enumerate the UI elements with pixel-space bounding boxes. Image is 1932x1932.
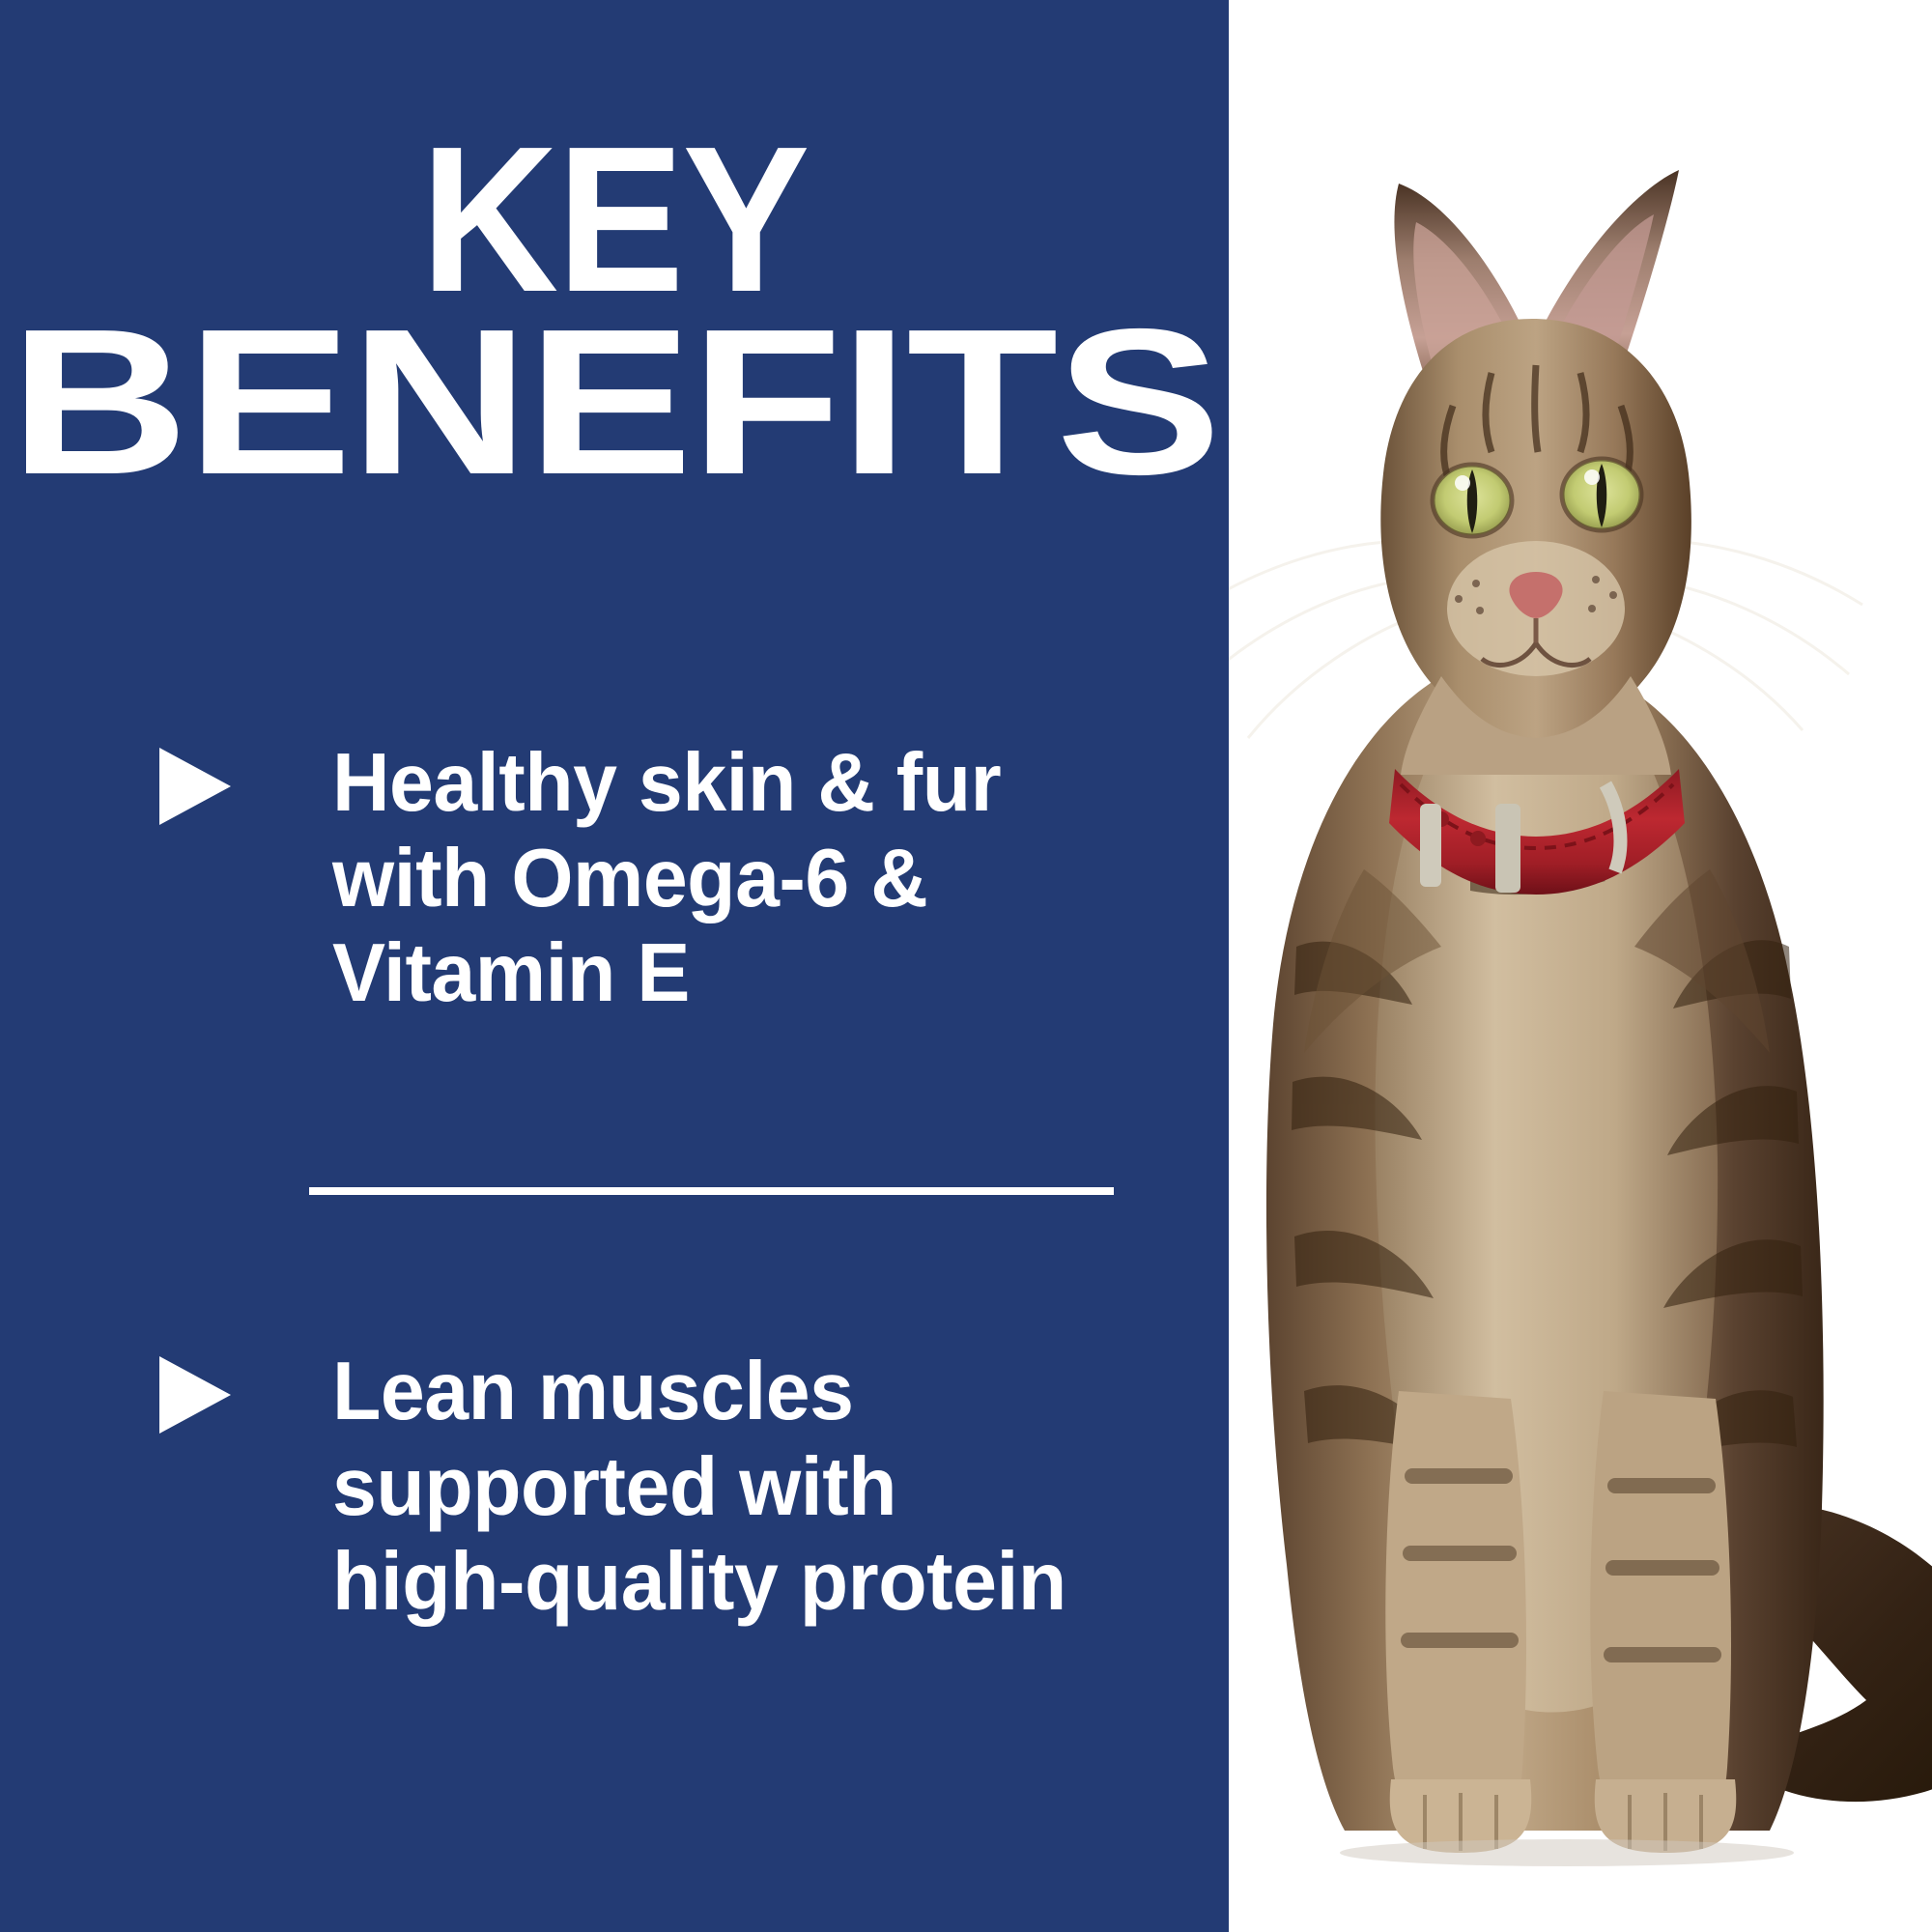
benefit-item-2-label: Lean muscles supported with high-quality… xyxy=(332,1345,1066,1631)
benefit-item-1: Healthy skin & fur with Omega-6 & Vitami… xyxy=(159,736,1022,1022)
benefit-item-1-label: Healthy skin & fur with Omega-6 & Vitami… xyxy=(332,736,1001,1022)
cat-shadow xyxy=(1340,1839,1794,1866)
cat-illustration xyxy=(1229,0,1932,1932)
benefit-item-2: Lean muscles supported with high-quality… xyxy=(159,1345,1089,1631)
cat-collar-buckle-pin xyxy=(1420,804,1441,887)
cat-collar-buckle-bar xyxy=(1495,804,1520,893)
cat-front-leg-right xyxy=(1590,1391,1731,1847)
page-title-line1: KEY xyxy=(49,128,1179,310)
triangle-right-icon xyxy=(159,1356,231,1434)
cat-photo xyxy=(1229,0,1932,1932)
page-title: KEY BENEFITS xyxy=(49,128,1179,493)
triangle-right-icon xyxy=(159,748,231,825)
page-title-line2: BENEFITS xyxy=(0,310,1350,493)
key-benefits-panel: KEY BENEFITS Healthy skin & fur with Ome… xyxy=(0,0,1932,1932)
benefit-divider xyxy=(309,1187,1114,1195)
cat-eye-highlight-left xyxy=(1455,475,1470,491)
cat-front-leg-left xyxy=(1385,1391,1526,1847)
cat-eye-highlight-right xyxy=(1584,469,1600,485)
